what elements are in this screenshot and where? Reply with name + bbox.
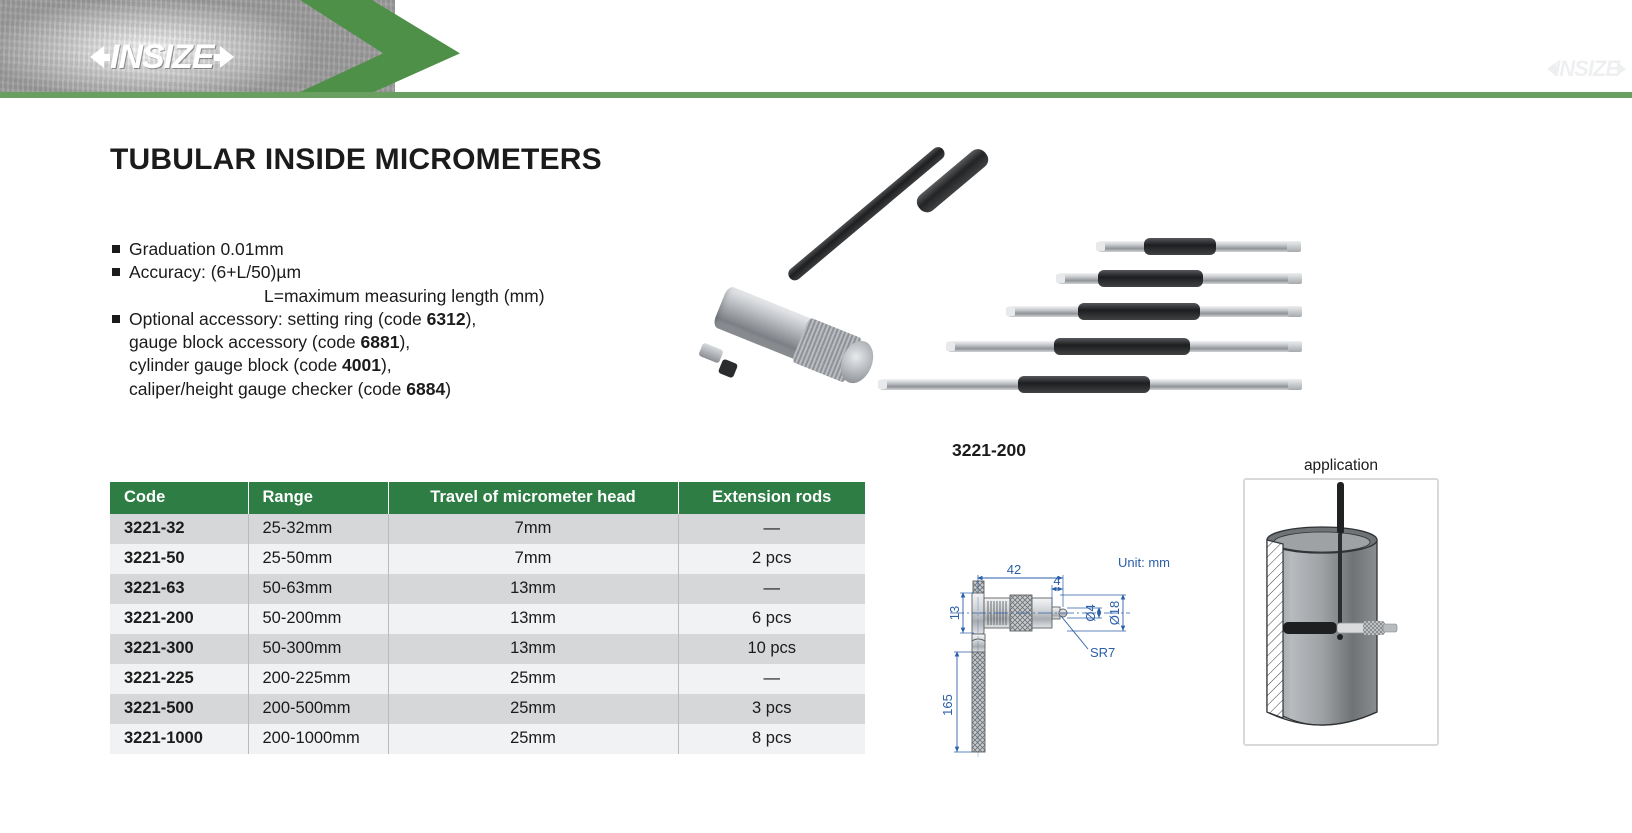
photo-micrometer-tip (698, 342, 724, 363)
product-photo-caption: 3221-200 (676, 440, 1302, 461)
cell-code: 3221-225 (110, 664, 248, 694)
feature-accuracy-text: Accuracy: (6+L/50)µm (129, 261, 301, 284)
cell-range: 50-300mm (248, 634, 388, 664)
cell-range: 200-500mm (248, 694, 388, 724)
accessory-code-6312: 6312 (427, 309, 466, 329)
cell-rods: — (678, 514, 865, 544)
cell-travel: 13mm (388, 574, 678, 604)
accessory-line-2: gauge block accessory (code 6881), (129, 331, 732, 354)
table-row[interactable]: 3221-32 25-32mm 7mm — (110, 514, 865, 544)
cell-rods: — (678, 664, 865, 694)
cell-rods: 2 pcs (678, 544, 865, 574)
column-header-travel: Travel of micrometer head (388, 482, 678, 514)
dim-165: 165 (940, 694, 955, 716)
cell-rods: 3 pcs (678, 694, 865, 724)
product-photo (676, 218, 1302, 418)
accessory-line-3: cylinder gauge block (code 4001), (129, 354, 732, 377)
dim-42: 42 (1007, 562, 1021, 577)
cell-rods: 10 pcs (678, 634, 865, 664)
cell-travel: 25mm (388, 664, 678, 694)
cell-range: 25-50mm (248, 544, 388, 574)
bullet-square-icon (112, 315, 120, 323)
header-banner: INSIZE INSIZE (0, 0, 1632, 98)
photo-micrometer-extension-rod (786, 144, 948, 283)
table-row[interactable]: 3221-1000 200-1000mm 25mm 8 pcs (110, 724, 865, 754)
logo-text: INSIZE (110, 38, 214, 77)
accessory-code-6881: 6881 (361, 332, 400, 352)
datasheet-page: INSIZE INSIZE TUBULAR INSIDE MICROMETERS… (0, 0, 1632, 833)
cell-travel: 7mm (388, 544, 678, 574)
accessory-line-1: Optional accessory: setting ring (code 6… (129, 308, 476, 331)
dimension-drawing: Unit: mm (930, 545, 1200, 760)
photo-extension-rod-1 (1096, 238, 1301, 254)
cell-rods: — (678, 574, 865, 604)
feature-item-graduation: Graduation 0.01mm (112, 238, 732, 261)
dim-4: 4 (1053, 573, 1060, 588)
accessory-line-4: caliper/height gauge checker (code 6884) (129, 378, 732, 401)
column-header-code: Code (110, 482, 248, 514)
table-row[interactable]: 3221-500 200-500mm 25mm 3 pcs (110, 694, 865, 724)
cell-travel: 7mm (388, 514, 678, 544)
insize-logo[interactable]: INSIZE (90, 36, 234, 78)
dim-sphere-radius: SR7 (1090, 645, 1115, 660)
dim-diameter-4: Ø4 (1083, 604, 1098, 621)
cell-code: 3221-50 (110, 544, 248, 574)
cell-code: 3221-63 (110, 574, 248, 604)
insize-watermark: INSIZE (1547, 56, 1626, 82)
page-title: TUBULAR INSIDE MICROMETERS (110, 143, 602, 177)
application-label: application (1243, 457, 1439, 475)
feature-list: Graduation 0.01mm Accuracy: (6+L/50)µm L… (112, 238, 732, 401)
application-illustration (1243, 478, 1439, 746)
feature-item-accessory: Optional accessory: setting ring (code 6… (112, 308, 732, 331)
cell-rods: 8 pcs (678, 724, 865, 754)
cell-travel: 13mm (388, 604, 678, 634)
column-header-extension-rods: Extension rods (678, 482, 865, 514)
cell-range: 200-225mm (248, 664, 388, 694)
specification-table: Code Range Travel of micrometer head Ext… (110, 482, 865, 754)
unit-label: Unit: mm (1118, 555, 1170, 570)
bullet-square-icon (112, 245, 120, 253)
cell-range: 200-1000mm (248, 724, 388, 754)
cell-travel: 25mm (388, 694, 678, 724)
bullet-square-icon (112, 268, 120, 276)
watermark-right-arrow-icon (1617, 62, 1626, 76)
table-row[interactable]: 3221-225 200-225mm 25mm — (110, 664, 865, 694)
cell-code: 3221-32 (110, 514, 248, 544)
accessory-code-4001: 4001 (342, 355, 381, 375)
feature-accuracy-note: L=maximum measuring length (mm) (129, 285, 732, 308)
banner-green-rule (0, 92, 1632, 98)
logo-left-bar (102, 54, 110, 61)
logo-right-arrow-icon (220, 46, 234, 68)
table-row[interactable]: 3221-63 50-63mm 13mm — (110, 574, 865, 604)
column-header-range: Range (248, 482, 388, 514)
dim-diameter-18: Ø18 (1107, 601, 1122, 626)
watermark-text: INSIZE (1554, 56, 1619, 82)
table-row[interactable]: 3221-50 25-50mm 7mm 2 pcs (110, 544, 865, 574)
cell-code: 3221-300 (110, 634, 248, 664)
dim-13: 13 (947, 606, 962, 620)
photo-extension-rod-2 (1056, 270, 1302, 286)
feature-item-accuracy: Accuracy: (6+L/50)µm (112, 261, 732, 284)
accessory-code-6884: 6884 (406, 379, 445, 399)
cell-travel: 25mm (388, 724, 678, 754)
feature-graduation-text: Graduation 0.01mm (129, 238, 284, 261)
photo-extension-rod-3 (1006, 303, 1302, 319)
cell-code: 3221-500 (110, 694, 248, 724)
table-body: 3221-32 25-32mm 7mm — 3221-50 25-50mm 7m… (110, 514, 865, 754)
banner-white-area (460, 0, 1632, 92)
cell-range: 50-63mm (248, 574, 388, 604)
cell-travel: 13mm (388, 634, 678, 664)
photo-extension-rod-4 (946, 338, 1302, 354)
cell-rods: 6 pcs (678, 604, 865, 634)
photo-extension-rod-5 (878, 376, 1302, 392)
cell-range: 50-200mm (248, 604, 388, 634)
photo-micrometer-knob (718, 359, 738, 379)
cell-code: 3221-200 (110, 604, 248, 634)
cell-range: 25-32mm (248, 514, 388, 544)
table-row[interactable]: 3221-300 50-300mm 13mm 10 pcs (110, 634, 865, 664)
table-row[interactable]: 3221-200 50-200mm 13mm 6 pcs (110, 604, 865, 634)
table-header-row: Code Range Travel of micrometer head Ext… (110, 482, 865, 514)
cell-code: 3221-1000 (110, 724, 248, 754)
